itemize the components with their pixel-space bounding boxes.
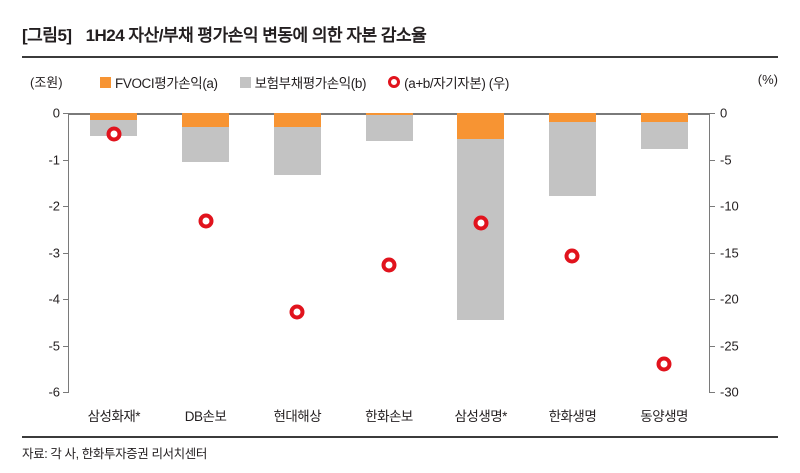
bar-segment-insurance-liability[interactable] [366,115,413,141]
data-point-marker[interactable] [382,257,397,272]
bar-segment-insurance-liability[interactable] [274,127,321,175]
page-title: 1H24 자산/부채 평가손익 변동에 의한 자본 감소율 [86,21,427,46]
left-axis-tick [63,206,69,207]
right-axis-tick [709,299,715,300]
right-axis-tick-label: 0 [720,106,772,121]
right-axis-tick [709,392,715,393]
right-axis-tick [709,206,715,207]
left-axis-tick [63,253,69,254]
legend-item-fvoci: FVOCI평가손익(a) [100,72,218,92]
data-point-marker[interactable] [290,305,305,320]
category-label: 동양생명 [640,405,688,425]
right-axis-tick [709,346,715,347]
legend-label-fvoci: FVOCI평가손익(a) [115,72,218,92]
left-axis-tick-label: -3 [14,245,60,260]
data-point-marker[interactable] [473,215,488,230]
right-axis-tick [709,253,715,254]
left-axis-tick [63,346,69,347]
category-label: 현대해상 [273,405,321,425]
left-axis-unit: (조원) [30,72,63,91]
right-axis-tick [709,160,715,161]
category-label: 삼성생명* [454,405,506,425]
bar-segment-fvoci[interactable] [182,113,229,127]
right-axis-tick-label: -30 [720,385,772,400]
left-axis-tick [63,113,69,114]
left-axis-tick-label: -4 [14,292,60,307]
category-label: DB손보 [185,405,227,425]
bar-segment-fvoci[interactable] [641,113,688,122]
bar-group[interactable] [274,113,321,392]
legend-swatch-grey-icon [240,77,251,88]
left-axis-tick-label: -5 [14,338,60,353]
legend-marker-circle-icon [388,76,400,88]
bar-segment-insurance-liability[interactable] [641,122,688,149]
legend-label-ratio: (a+b/자기자본) (우) [404,72,509,92]
left-axis-tick [63,299,69,300]
bar-group[interactable] [90,113,137,392]
legend-label-insurance-liability: 보험부채평가손익(b) [255,72,366,92]
right-axis-tick-label: -25 [720,338,772,353]
left-axis-tick [63,392,69,393]
right-axis-tick-label: -10 [720,199,772,214]
data-point-marker[interactable] [657,357,672,372]
legend-swatch-orange-icon [100,77,111,88]
right-axis-tick-label: -20 [720,292,772,307]
category-label: 한화생명 [549,405,597,425]
bar-group[interactable] [366,113,413,392]
figure-tag: [그림5] [22,21,72,46]
left-axis-tick [63,160,69,161]
left-axis-tick-label: -2 [14,199,60,214]
category-label: 삼성화재* [88,405,140,425]
left-axis-tick-label: 0 [14,106,60,121]
right-axis-tick [709,113,715,114]
data-point-marker[interactable] [565,249,580,264]
right-axis-tick-label: -15 [720,245,772,260]
legend-item-insurance-liability: 보험부채평가손익(b) [240,72,366,92]
data-point-marker[interactable] [106,127,121,142]
bar-group[interactable] [457,113,504,392]
bar-segment-insurance-liability[interactable] [549,122,596,195]
right-axis-unit: (%) [758,72,778,87]
data-point-marker[interactable] [198,213,213,228]
footer-divider [22,436,778,438]
figure-container: [그림5] 1H24 자산/부채 평가손익 변동에 의한 자본 감소율 (조원)… [0,0,800,473]
title-divider [22,56,778,58]
bar-segment-fvoci[interactable] [549,113,596,122]
left-axis-tick-label: -1 [14,152,60,167]
plot-area [68,113,710,392]
bar-segment-insurance-liability[interactable] [182,127,229,162]
bar-segment-fvoci[interactable] [274,113,321,127]
figure-header: [그림5] 1H24 자산/부채 평가손익 변동에 의한 자본 감소율 [22,18,778,48]
bar-segment-fvoci[interactable] [90,113,137,120]
chart-legend: FVOCI평가손익(a) 보험부채평가손익(b) (a+b/자기자본) (우) [100,72,660,92]
legend-item-ratio: (a+b/자기자본) (우) [388,72,509,92]
category-label: 한화손보 [365,405,413,425]
source-note: 자료: 각 사, 한화투자증권 리서치센터 [22,443,207,462]
bar-group[interactable] [641,113,688,392]
bar-segment-fvoci[interactable] [457,113,504,139]
bar-group[interactable] [182,113,229,392]
right-axis-tick-label: -5 [720,152,772,167]
left-axis-tick-label: -6 [14,385,60,400]
